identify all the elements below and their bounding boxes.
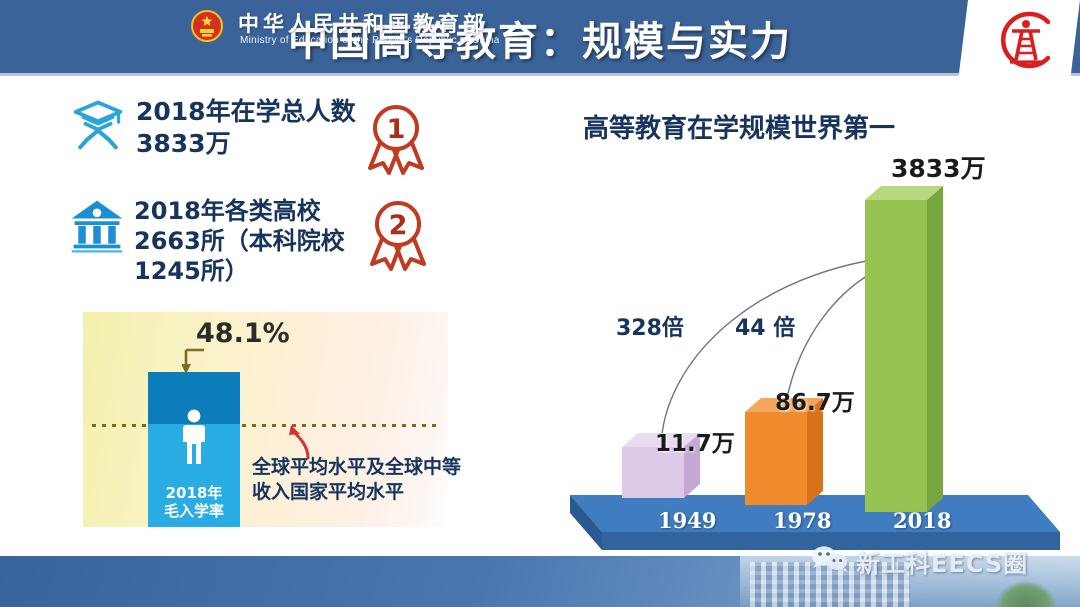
bar-chart bbox=[560, 150, 1070, 550]
growth-annotation-328: 328倍 bbox=[616, 310, 684, 342]
wechat-icon bbox=[810, 544, 850, 579]
gross-bar-label-line1: 2018年 bbox=[148, 484, 240, 503]
chart-title: 高等教育在学规模世界第一 bbox=[583, 112, 895, 147]
bar-2018-front bbox=[865, 200, 927, 512]
fact-item-institutions: 2018年各类高校2663所（本科院校1245所） bbox=[68, 196, 378, 287]
page-title: 中国高等教育：规模与实力 bbox=[0, 0, 1080, 76]
gross-bar-label-line2: 毛入学率 bbox=[148, 502, 240, 521]
badge-number-1: 1 bbox=[387, 114, 406, 145]
university-circle-logo-icon bbox=[990, 6, 1062, 74]
bar-value-1978: 86.7万 bbox=[775, 383, 855, 417]
bar-value-1949: 11.7万 bbox=[655, 424, 735, 458]
wechat-watermark: 新工科EECS圈 bbox=[810, 544, 1028, 579]
graduation-cap-icon bbox=[70, 96, 136, 157]
award-ribbon-icon-1: 1 bbox=[360, 100, 432, 176]
gross-bar-label: 2018年 毛入学率 bbox=[148, 484, 240, 522]
bar-1978-front bbox=[745, 412, 807, 505]
fact-label-enrolment: 2018年在学总人数3833万 bbox=[136, 96, 370, 159]
bar-2018-side bbox=[927, 186, 943, 512]
axis-label-1949: 1949 bbox=[658, 508, 716, 533]
classical-building-icon bbox=[68, 196, 134, 259]
china-national-emblem-icon bbox=[190, 9, 224, 43]
ministry-name-en: Ministry of Education of the People's Re… bbox=[240, 35, 500, 46]
bar-chart-svg bbox=[560, 150, 1070, 550]
growth-annotation-44: 44 倍 bbox=[735, 310, 795, 342]
student-person-icon bbox=[180, 408, 208, 466]
ministry-name-cn: 中华人民共和国教育部 bbox=[238, 8, 488, 38]
gross-enrolment-bar: 2018年 毛入学率 bbox=[148, 372, 240, 527]
bar-value-2018: 3833万 bbox=[891, 149, 986, 185]
axis-label-1978: 1978 bbox=[773, 508, 831, 533]
wechat-watermark-text: 新工科EECS圈 bbox=[856, 544, 1028, 579]
global-average-dotted-line bbox=[92, 424, 440, 427]
award-ribbon-icon-2: 2 bbox=[362, 196, 434, 272]
fact-label-institutions: 2018年各类高校2663所（本科院校1245所） bbox=[134, 196, 378, 287]
gross-enrolment-percent: 48.1% bbox=[196, 318, 290, 349]
global-average-note: 全球平均水平及全球中等收入国家平均水平 bbox=[252, 455, 462, 505]
fact-item-enrolment: 2018年在学总人数3833万 bbox=[70, 96, 370, 159]
axis-label-2018: 2018 bbox=[893, 508, 951, 533]
badge-number-2: 2 bbox=[389, 210, 408, 241]
slide-root: 中国高等教育：规模与实力 2018年在学总人数3833万 bbox=[0, 0, 1080, 607]
